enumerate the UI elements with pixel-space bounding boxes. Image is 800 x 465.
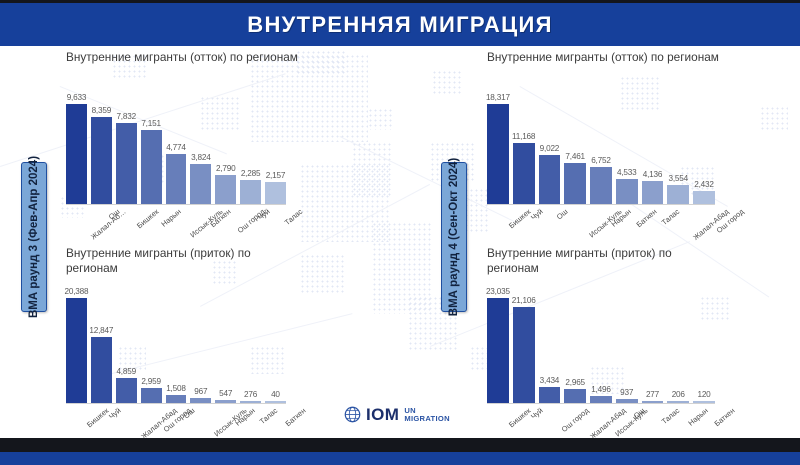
x-axis-tick-label: Бишкек bbox=[506, 406, 531, 429]
bar[interactable] bbox=[539, 155, 561, 204]
bar-column[interactable]: 2,965 bbox=[564, 298, 586, 403]
bar[interactable] bbox=[487, 298, 509, 403]
bar[interactable] bbox=[693, 191, 715, 204]
bar[interactable] bbox=[66, 104, 87, 204]
x-axis-tick-label: Чуй bbox=[529, 207, 545, 222]
x-axis-line bbox=[487, 204, 715, 205]
bar-column[interactable]: 4,136 bbox=[642, 104, 664, 204]
bar-value-label: 21,106 bbox=[512, 296, 536, 305]
watermark-dot-cluster bbox=[300, 254, 344, 294]
slide: ВНУТРЕННЯЯ МИГРАЦИЯ ВМА раунд 3 (Фев-Апр… bbox=[0, 0, 800, 465]
bar-column[interactable]: 21,106 bbox=[513, 298, 535, 403]
bar[interactable] bbox=[166, 395, 187, 403]
bar[interactable] bbox=[66, 298, 87, 403]
bar-column[interactable]: 4,533 bbox=[616, 104, 638, 204]
bar-column[interactable]: 3,554 bbox=[667, 104, 689, 204]
bar[interactable] bbox=[616, 179, 638, 204]
bar-column[interactable]: 2,285 bbox=[240, 104, 261, 204]
slide-title-band: ВНУТРЕННЯЯ МИГРАЦИЯ bbox=[0, 3, 800, 46]
plot-area: 20,38812,8474,8592,9591,50896754727640Би… bbox=[66, 298, 286, 403]
x-axis-tick-label: Бишкек bbox=[135, 207, 160, 230]
chart-title: Внутренние мигранты (отток) по регионам bbox=[487, 50, 719, 65]
bar-value-label: 7,151 bbox=[141, 119, 161, 128]
bar[interactable] bbox=[487, 104, 509, 204]
watermark-dot-cluster bbox=[368, 108, 394, 130]
bar-column[interactable]: 23,035 bbox=[487, 298, 509, 403]
bar-column[interactable]: 3,434 bbox=[539, 298, 561, 403]
bar-value-label: 3,824 bbox=[191, 153, 211, 162]
bar-value-label: 120 bbox=[697, 390, 710, 399]
bar-value-label: 3,554 bbox=[668, 174, 688, 183]
bar-value-label: 7,461 bbox=[565, 152, 585, 161]
bar-column[interactable]: 2,790 bbox=[215, 104, 236, 204]
bar-value-label: 2,790 bbox=[216, 164, 236, 173]
bar-column[interactable]: 4,774 bbox=[166, 104, 187, 204]
bar-column[interactable]: 8,359 bbox=[91, 104, 112, 204]
round-label-4-text: ВМА раунд 4 (Сен-Окт 2024) bbox=[448, 158, 460, 316]
bar-value-label: 547 bbox=[219, 389, 232, 398]
bar-value-label: 1,496 bbox=[591, 385, 611, 394]
plot-area: 23,03521,1063,4342,9651,496937277206120Б… bbox=[487, 298, 715, 403]
bar-value-label: 2,157 bbox=[266, 171, 286, 180]
x-axis-line bbox=[66, 204, 286, 205]
bar[interactable] bbox=[190, 164, 211, 204]
chart-panel-r3-inflow: Внутренние мигранты (приток) по регионам… bbox=[66, 246, 306, 436]
bar-value-label: 2,432 bbox=[694, 180, 714, 189]
bar-column[interactable]: 120 bbox=[693, 298, 715, 403]
x-axis-tick-label: Бишкек bbox=[85, 406, 110, 429]
x-axis-tick-label: Талас bbox=[283, 207, 304, 227]
chart-title: Внутренние мигранты (отток) по регионам bbox=[66, 50, 298, 65]
bar[interactable] bbox=[564, 389, 586, 403]
bar-value-label: 2,959 bbox=[141, 377, 161, 386]
bar-column[interactable]: 11,168 bbox=[513, 104, 535, 204]
bar-series: 23,03521,1063,4342,9651,496937277206120 bbox=[487, 298, 715, 403]
round-label-3: ВМА раунд 3 (Фев-Апр 2024) bbox=[21, 162, 47, 312]
bar-value-label: 23,035 bbox=[486, 287, 510, 296]
bar-series: 9,6338,3597,8327,1514,7743,8242,7902,285… bbox=[66, 104, 286, 204]
bar-column[interactable]: 276 bbox=[240, 298, 261, 403]
bar[interactable] bbox=[265, 182, 286, 204]
chart-title: Внутренние мигранты (приток) по регионам bbox=[487, 246, 719, 276]
bar[interactable] bbox=[590, 167, 612, 204]
bar-value-label: 4,774 bbox=[166, 143, 186, 152]
x-axis-tick-label: Талас bbox=[258, 406, 279, 426]
globe-icon bbox=[344, 406, 361, 423]
chart-panel-r4-outflow: Внутренние мигранты (отток) по регионам … bbox=[487, 50, 737, 240]
bar[interactable] bbox=[141, 388, 162, 403]
bar[interactable] bbox=[642, 181, 664, 204]
x-axis-tick-label: Ош город bbox=[560, 406, 591, 434]
x-axis-line bbox=[66, 403, 286, 404]
bar-column[interactable]: 6,752 bbox=[590, 104, 612, 204]
bar[interactable] bbox=[91, 337, 112, 403]
bar[interactable] bbox=[513, 143, 535, 204]
bar-value-label: 9,022 bbox=[540, 144, 560, 153]
iom-tagline-line2: MIGRATION bbox=[404, 415, 450, 423]
bar-value-label: 11,168 bbox=[512, 132, 535, 141]
x-axis-tick-label: Баткен bbox=[635, 207, 659, 229]
bar[interactable] bbox=[215, 175, 236, 204]
bar[interactable] bbox=[166, 154, 187, 204]
iom-tagline: UN MIGRATION bbox=[404, 407, 450, 423]
bar-column[interactable]: 3,824 bbox=[190, 104, 211, 204]
bar-value-label: 6,752 bbox=[591, 156, 611, 165]
bar-column[interactable]: 40 bbox=[265, 298, 286, 403]
plot-area: 18,31711,1689,0227,4616,7524,5334,1363,5… bbox=[487, 104, 715, 204]
bar-value-label: 1,508 bbox=[166, 384, 186, 393]
x-axis-tick-label: Баткен bbox=[284, 406, 308, 428]
x-axis-tick-label: Чуй bbox=[529, 406, 545, 421]
bar[interactable] bbox=[240, 180, 261, 204]
x-axis-line bbox=[487, 403, 715, 404]
bar-column[interactable]: 7,461 bbox=[564, 104, 586, 204]
bar-column[interactable]: 1,496 bbox=[590, 298, 612, 403]
bar-value-label: 7,832 bbox=[116, 112, 136, 121]
bar-series: 18,31711,1689,0227,4616,7524,5334,1363,5… bbox=[487, 104, 715, 204]
bar-value-label: 40 bbox=[271, 390, 280, 399]
bar-value-label: 277 bbox=[646, 390, 659, 399]
bar-value-label: 206 bbox=[672, 390, 685, 399]
bar-value-label: 276 bbox=[244, 390, 257, 399]
x-axis-tick-label: Баткен bbox=[712, 406, 736, 428]
bottom-edge-strip bbox=[0, 438, 800, 452]
bar-column[interactable]: 20,388 bbox=[66, 298, 87, 403]
x-axis-tick-label: Нарын bbox=[159, 207, 182, 229]
bar[interactable] bbox=[667, 185, 689, 204]
bar-column[interactable]: 937 bbox=[616, 298, 638, 403]
x-axis-tick-label: Нарын bbox=[686, 406, 709, 428]
bar-column[interactable]: 9,022 bbox=[539, 104, 561, 204]
iom-wordmark: IOM bbox=[366, 406, 399, 423]
x-axis-tick-label: Талас bbox=[660, 406, 681, 426]
bar-column[interactable]: 2,157 bbox=[265, 104, 286, 204]
bar[interactable] bbox=[564, 163, 586, 204]
bar-column[interactable]: 277 bbox=[642, 298, 664, 403]
bar-value-label: 12,847 bbox=[89, 326, 113, 335]
bar[interactable] bbox=[116, 378, 137, 403]
chart-panel-r3-outflow: Внутренние мигранты (отток) по регионам … bbox=[66, 50, 306, 240]
bar-column[interactable]: 18,317 bbox=[487, 104, 509, 204]
bar[interactable] bbox=[513, 307, 535, 403]
bar-column[interactable]: 12,847 bbox=[91, 298, 112, 403]
bar-value-label: 2,965 bbox=[565, 378, 585, 387]
plot-area: 9,6338,3597,8327,1514,7743,8242,7902,285… bbox=[66, 104, 286, 204]
bar-column[interactable]: 547 bbox=[215, 298, 236, 403]
bar-series: 20,38812,8474,8592,9591,50896754727640 bbox=[66, 298, 286, 403]
watermark-dot-cluster bbox=[432, 70, 462, 94]
chart-title: Внутренние мигранты (приток) по регионам bbox=[66, 246, 298, 276]
bar-value-label: 4,533 bbox=[617, 168, 637, 177]
bar[interactable] bbox=[91, 117, 112, 204]
bar-value-label: 3,434 bbox=[540, 376, 560, 385]
bar-column[interactable]: 7,151 bbox=[141, 104, 162, 204]
bar-value-label: 937 bbox=[620, 388, 633, 397]
bar-value-label: 20,388 bbox=[65, 287, 89, 296]
bar-value-label: 967 bbox=[194, 387, 207, 396]
bar-column[interactable]: 967 bbox=[190, 298, 211, 403]
bar[interactable] bbox=[539, 387, 561, 403]
bar[interactable] bbox=[116, 123, 137, 204]
x-axis-tick-label: Бишкек bbox=[506, 207, 531, 230]
bar[interactable] bbox=[590, 396, 612, 403]
slide-canvas: ВМА раунд 3 (Фев-Апр 2024) ВМА раунд 4 (… bbox=[0, 46, 800, 438]
bar-column[interactable]: 206 bbox=[667, 298, 689, 403]
chart-panel-r4-inflow: Внутренние мигранты (приток) по регионам… bbox=[487, 246, 737, 436]
bottom-blue-strip bbox=[0, 452, 800, 465]
bar[interactable] bbox=[141, 130, 162, 204]
page-title: ВНУТРЕННЯЯ МИГРАЦИЯ bbox=[247, 12, 552, 38]
bar-column[interactable]: 9,633 bbox=[66, 104, 87, 204]
bar-value-label: 18,317 bbox=[486, 93, 510, 102]
bar-column[interactable]: 2,959 bbox=[141, 298, 162, 403]
round-label-3-text: ВМА раунд 3 (Фев-Апр 2024) bbox=[28, 156, 40, 318]
bar-value-label: 9,633 bbox=[67, 93, 87, 102]
bar-value-label: 2,285 bbox=[241, 169, 261, 178]
x-axis-tick-label: Ош bbox=[555, 207, 570, 221]
round-label-4: ВМА раунд 4 (Сен-Окт 2024) bbox=[441, 162, 467, 312]
x-axis-tick-label: Чуй bbox=[107, 406, 123, 421]
iom-logo: IOM UN MIGRATION bbox=[344, 406, 450, 423]
x-axis-tick-label: Баткен bbox=[209, 207, 233, 229]
bar-value-label: 8,359 bbox=[92, 106, 112, 115]
watermark-dot-cluster bbox=[760, 106, 788, 130]
bar-column[interactable]: 2,432 bbox=[693, 104, 715, 204]
bar-column[interactable]: 4,859 bbox=[116, 298, 137, 403]
bar-value-label: 4,136 bbox=[643, 170, 663, 179]
x-axis-tick-label: Талас bbox=[660, 207, 681, 227]
bar-column[interactable]: 1,508 bbox=[166, 298, 187, 403]
bar-column[interactable]: 7,832 bbox=[116, 104, 137, 204]
bar-value-label: 4,859 bbox=[116, 367, 136, 376]
